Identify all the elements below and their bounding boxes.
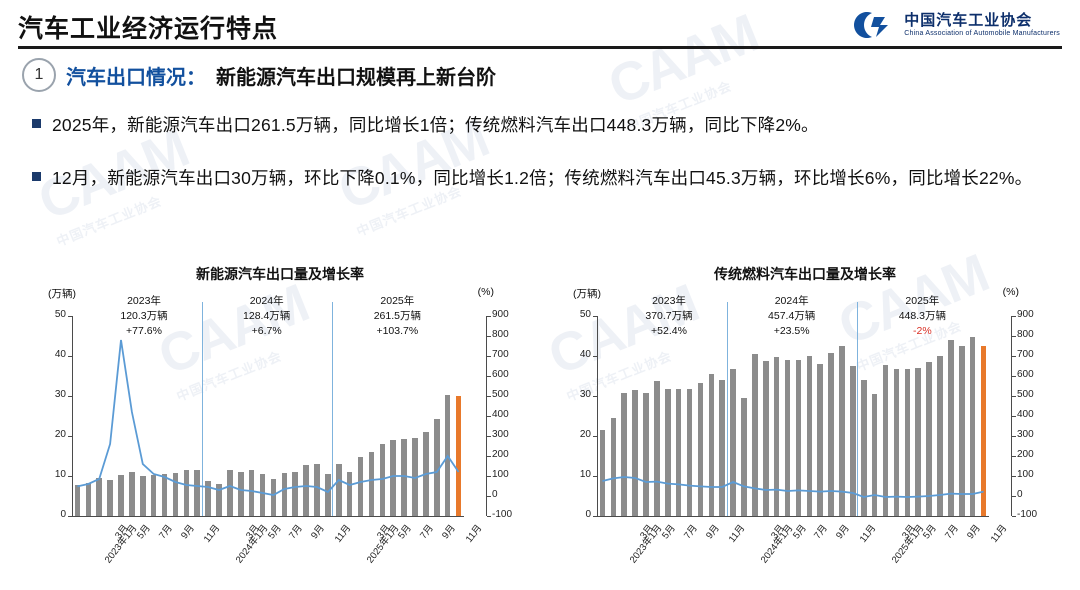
- chart-ice-export: 传统燃料汽车出口量及增长率 (万辆) (%) 01020304050-10001…: [545, 258, 1065, 558]
- annotation-growth: -2%: [913, 325, 932, 337]
- chart-nev-export: 新能源汽车出口量及增长率 (万辆) (%) 01020304050-100010…: [20, 258, 540, 558]
- year-annotation: 2025年448.3万辆-2%: [872, 294, 972, 340]
- year-annotation: 2025年261.5万辆+103.7%: [347, 294, 447, 340]
- caam-logo-text: 中国汽车工业协会 China Association of Automobile…: [904, 12, 1060, 37]
- annotation-value: 120.3万辆: [120, 310, 167, 322]
- year-annotation: 2024年457.4万辆+23.5%: [742, 294, 842, 340]
- year-annotation: 2023年370.7万辆+52.4%: [619, 294, 719, 340]
- annotation-growth: +103.7%: [376, 325, 418, 337]
- annotation-value: 457.4万辆: [768, 310, 815, 322]
- year-annotation: 2024年128.4万辆+6.7%: [217, 294, 317, 340]
- section-heading: 1 汽车出口情况： 新能源汽车出口规模再上新台阶: [22, 58, 496, 92]
- header-divider: [18, 46, 1062, 49]
- section-title-secondary: 新能源汽车出口规模再上新台阶: [216, 61, 496, 90]
- plot-area: 01020304050-1000100200300400500600700800…: [545, 258, 1065, 558]
- annotation-year: 2024年: [250, 295, 284, 307]
- list-item: 2025年，新能源汽车出口261.5万辆，同比增长1倍；传统燃料汽车出口448.…: [32, 110, 1052, 141]
- page-header: 汽车工业经济运行特点 中国汽车工业协会 China Association of…: [0, 0, 1080, 48]
- plot-area: 01020304050-1000100200300400500600700800…: [20, 258, 540, 558]
- annotation-growth: +77.6%: [126, 325, 162, 337]
- annotation-value: 128.4万辆: [243, 310, 290, 322]
- annotation-year: 2025年: [380, 295, 414, 307]
- annotation-growth: +52.4%: [651, 325, 687, 337]
- annotation-year: 2023年: [652, 295, 686, 307]
- annotation-value: 370.7万辆: [645, 310, 692, 322]
- bullet-list: 2025年，新能源汽车出口261.5万辆，同比增长1倍；传统燃料汽车出口448.…: [32, 110, 1052, 215]
- bullet-square-icon: [32, 172, 41, 181]
- section-title-primary: 汽车出口情况：: [66, 61, 206, 90]
- bullet-square-icon: [32, 119, 41, 128]
- section-number-badge: 1: [22, 58, 56, 92]
- bullet-text: 2025年，新能源汽车出口261.5万辆，同比增长1倍；传统燃料汽车出口448.…: [52, 110, 819, 141]
- annotation-year: 2024年: [775, 295, 809, 307]
- annotation-year: 2025年: [905, 295, 939, 307]
- logo-title-cn: 中国汽车工业协会: [904, 12, 1060, 29]
- page-title: 汽车工业经济运行特点: [18, 9, 278, 45]
- list-item: 12月，新能源汽车出口30万辆，环比下降0.1%，同比增长1.2倍；传统燃料汽车…: [32, 163, 1052, 194]
- annotation-growth: +6.7%: [252, 325, 282, 337]
- annotation-value: 261.5万辆: [374, 310, 421, 322]
- logo-title-en: China Association of Automobile Manufact…: [904, 30, 1060, 38]
- caam-logo: 中国汽车工业协会 China Association of Automobile…: [852, 8, 1060, 42]
- annotation-value: 448.3万辆: [899, 310, 946, 322]
- bullet-text: 12月，新能源汽车出口30万辆，环比下降0.1%，同比增长1.2倍；传统燃料汽车…: [52, 163, 1032, 194]
- annotation-growth: +23.5%: [774, 325, 810, 337]
- caam-logo-icon: [852, 10, 896, 40]
- year-annotation: 2023年120.3万辆+77.6%: [94, 294, 194, 340]
- annotation-year: 2023年: [127, 295, 161, 307]
